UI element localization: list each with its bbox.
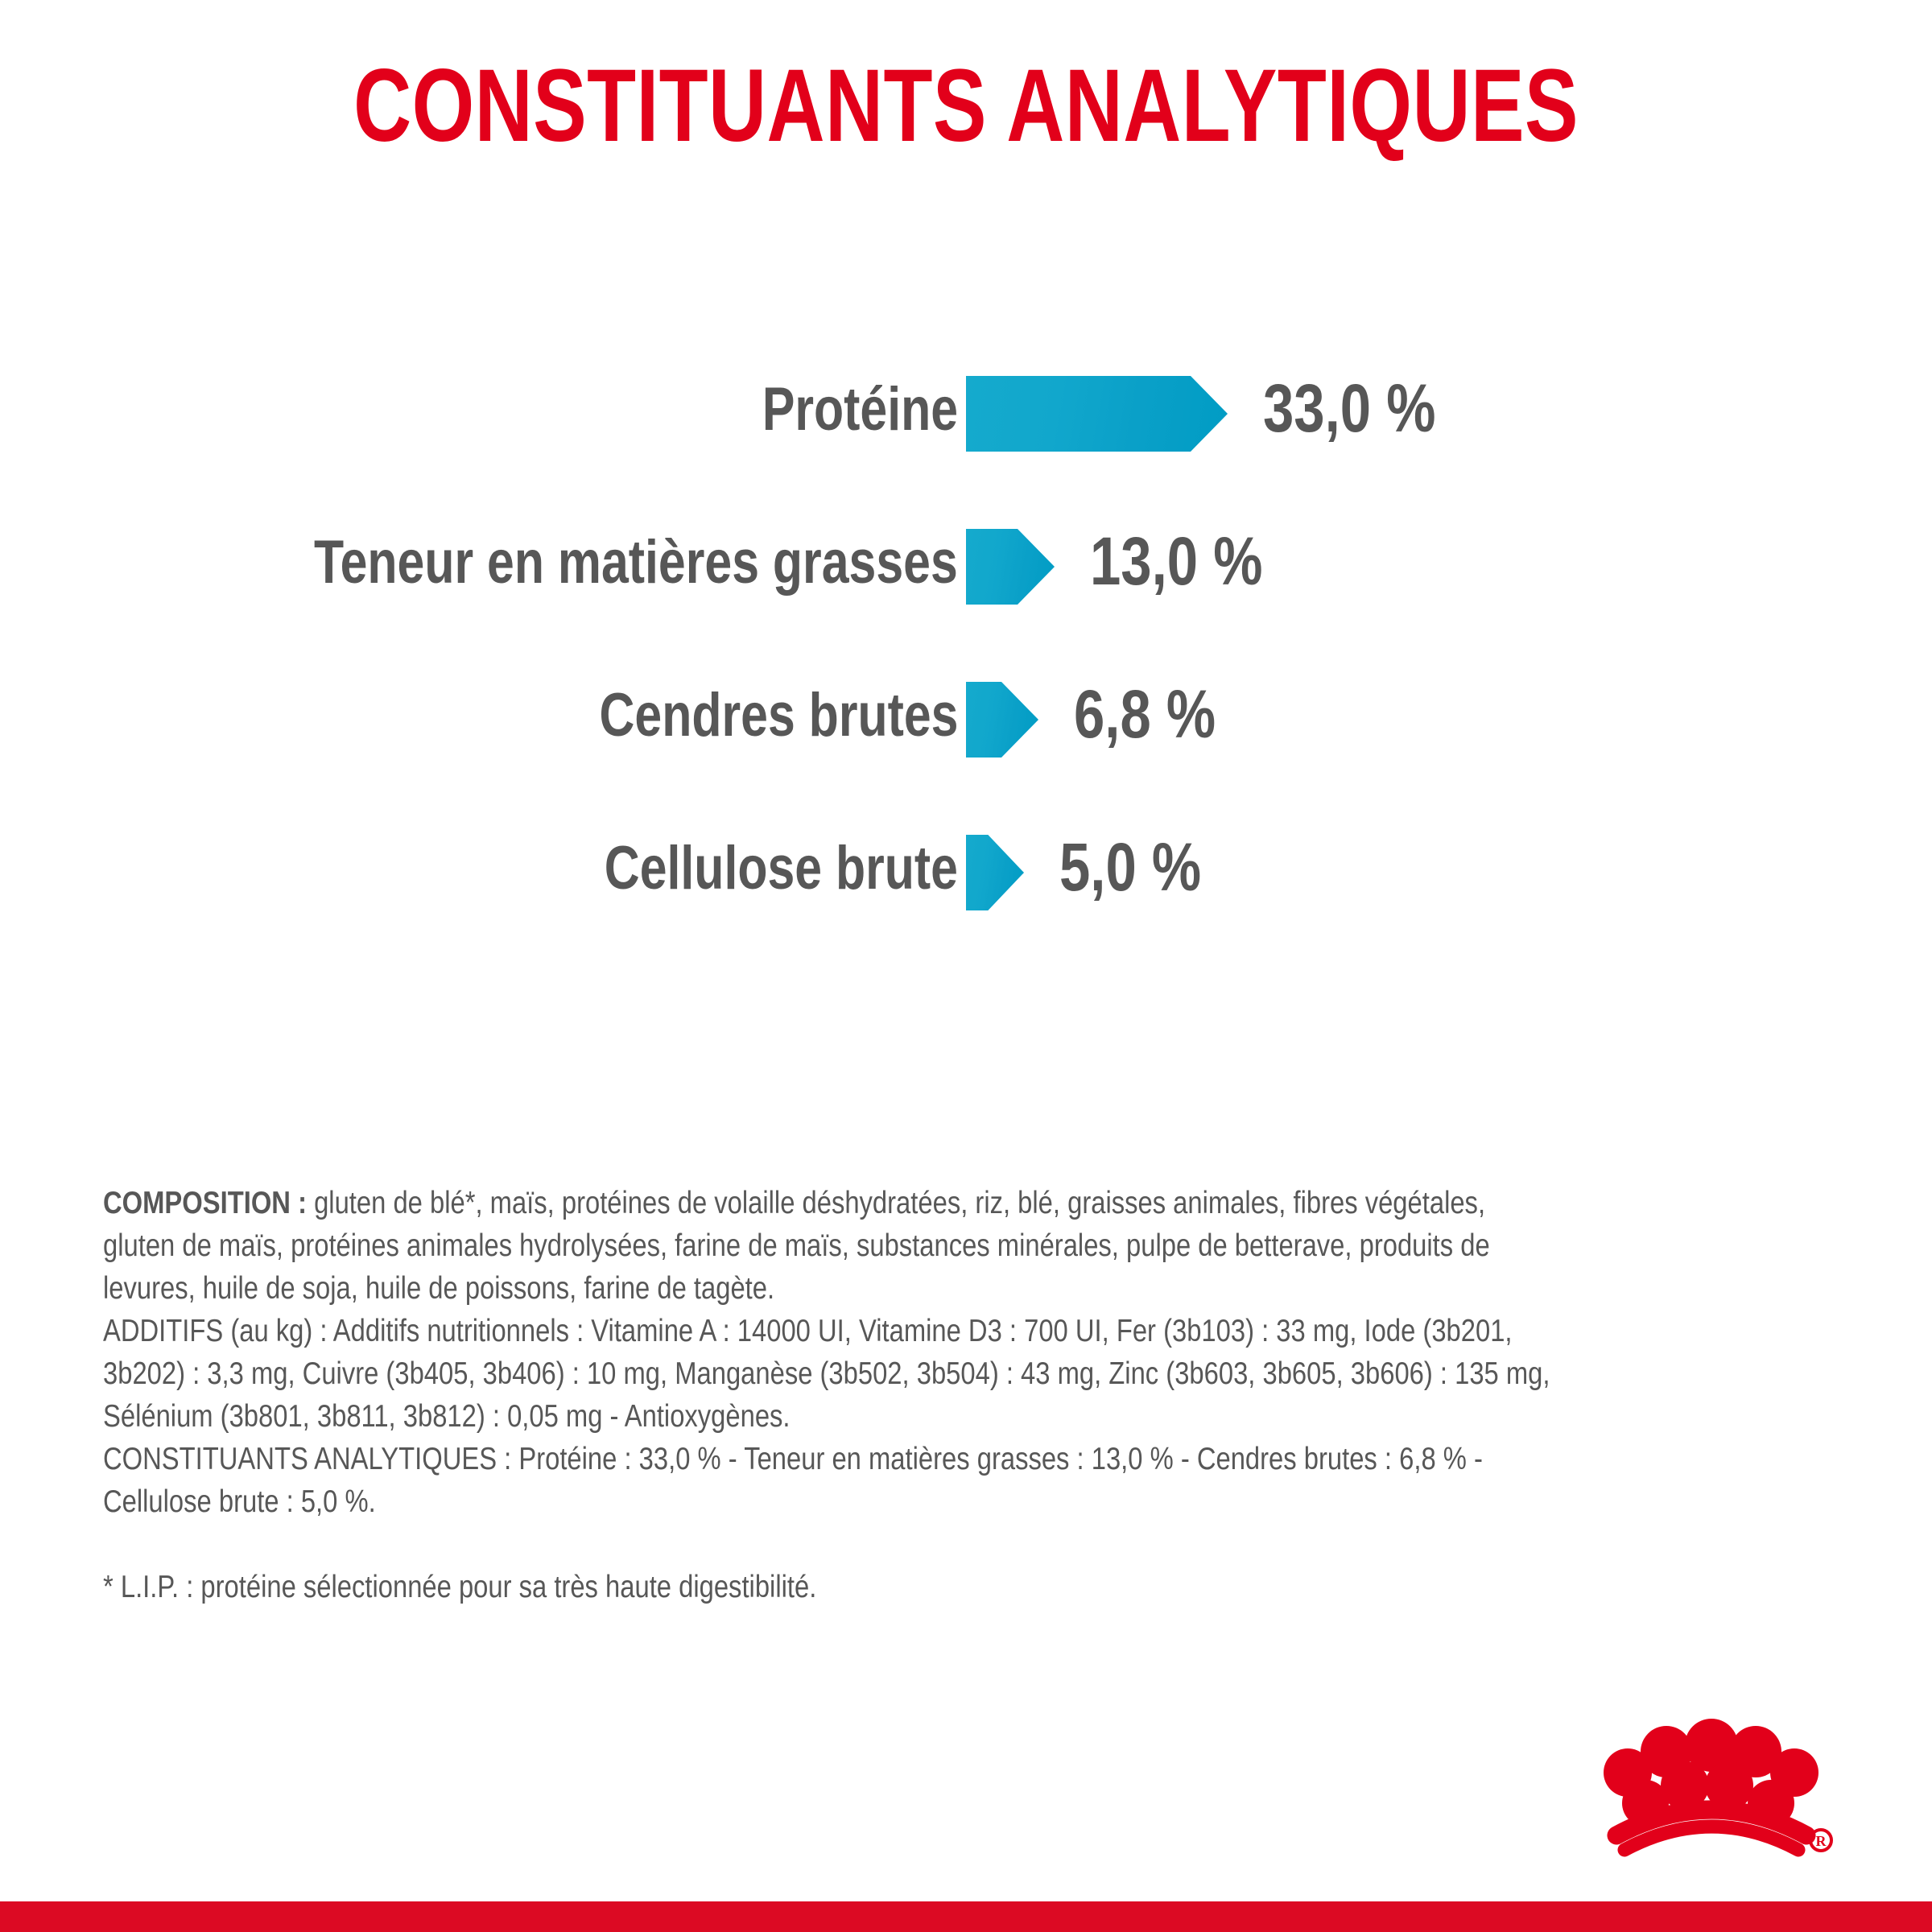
lip-footnote: * L.I.P. : protéine sélectionnée pour sa… <box>103 1566 1557 1608</box>
nutrient-value: 13,0 % <box>1090 519 1262 603</box>
nutrient-label: Protéine <box>762 369 958 450</box>
royal-canin-crown-logo: R <box>1599 1713 1840 1866</box>
nutrient-bar <box>966 529 1055 605</box>
additives-paragraph: ADDITIFS (au kg) : Additifs nutritionnel… <box>103 1310 1557 1438</box>
nutrient-bar <box>966 376 1228 452</box>
composition-heading: COMPOSITION : <box>103 1186 307 1220</box>
composition-paragraph: COMPOSITION : gluten de blé*, maïs, prot… <box>103 1182 1557 1310</box>
composition-body: gluten de blé*, maïs, protéines de volai… <box>103 1186 1490 1306</box>
nutrient-value: 33,0 % <box>1263 366 1435 450</box>
page-title: CONSTITUANTS ANALYTIQUES <box>213 47 1719 165</box>
nutrient-row: Cellulose brute 5,0 % <box>0 825 1932 978</box>
paragraph-spacer <box>103 1523 1557 1566</box>
nutrient-value: 6,8 % <box>1074 672 1216 756</box>
nutrient-row: Protéine 33,0 % <box>0 366 1932 519</box>
nutrient-row: Cendres brutes 6,8 % <box>0 672 1932 825</box>
nutrient-bar-container <box>966 529 1055 605</box>
footer-red-bar <box>0 1901 1932 1932</box>
nutrient-value: 5,0 % <box>1059 825 1201 909</box>
nutrient-bar <box>966 835 1024 910</box>
nutrient-label: Cellulose brute <box>605 828 958 909</box>
nutrient-bar <box>966 682 1038 758</box>
nutrient-bar-container <box>966 835 1024 910</box>
nutrient-row: Teneur en matières grasses 13,0 % <box>0 519 1932 672</box>
nutrient-label: Teneur en matières grasses <box>314 522 958 603</box>
analytical-constituents-chart: Protéine 33,0 % Teneur en matières grass… <box>0 366 1932 978</box>
nutrient-label: Cendres brutes <box>599 675 958 756</box>
fine-print-block: COMPOSITION : gluten de blé*, maïs, prot… <box>103 1182 1557 1608</box>
nutrient-bar-container <box>966 376 1228 452</box>
registered-mark-glyph: R <box>1816 1833 1827 1849</box>
analytical-constituents-paragraph: CONSTITUANTS ANALYTIQUES : Protéine : 33… <box>103 1438 1557 1523</box>
nutrient-bar-container <box>966 682 1038 758</box>
